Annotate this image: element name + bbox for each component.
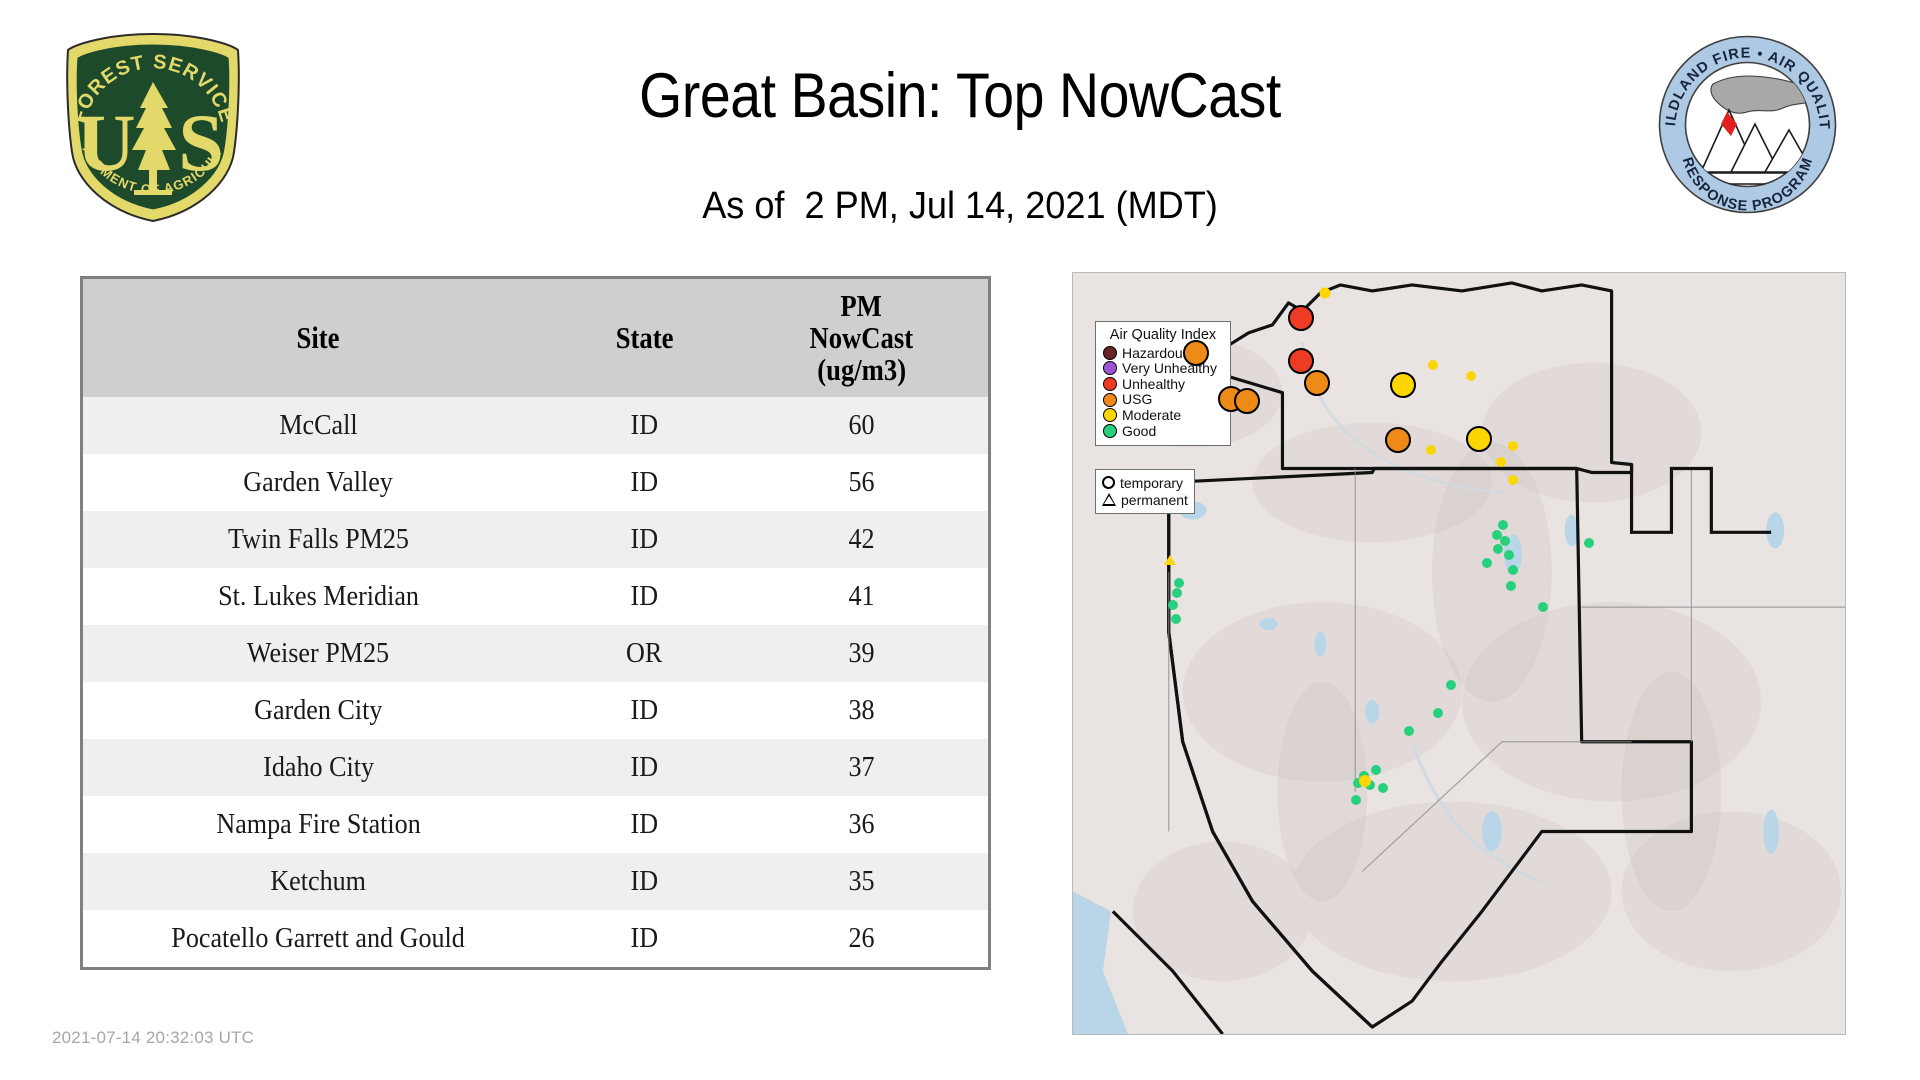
- monitor-marker[interactable]: [1482, 558, 1492, 568]
- table-row: Garden ValleyID56: [83, 454, 988, 511]
- pm-cell: 36: [735, 796, 988, 853]
- site-cell: Weiser PM25: [83, 625, 554, 682]
- site-cell: Pocatello Garrett and Gould: [83, 910, 554, 967]
- column-header-pm-nowcast: PM NowCast (ug/m3): [735, 279, 988, 397]
- monitor-marker[interactable]: [1508, 441, 1518, 451]
- monitor-marker-permanent[interactable]: [1164, 555, 1176, 565]
- monitor-marker[interactable]: [1426, 445, 1436, 455]
- pm-cell: 56: [735, 454, 988, 511]
- state-cell: ID: [554, 796, 735, 853]
- monitor-marker[interactable]: [1506, 581, 1516, 591]
- pm-cell: 41: [735, 568, 988, 625]
- monitor-marker[interactable]: [1390, 372, 1416, 398]
- pm-cell: 38: [735, 682, 988, 739]
- monitor-marker[interactable]: [1496, 457, 1506, 467]
- page-subtitle: As of 2 PM, Jul 14, 2021 (MDT): [333, 185, 1587, 228]
- state-cell: ID: [554, 397, 735, 454]
- forest-service-logo: FOREST SERVICE U S DEPARTMENT OF AGRICUL…: [58, 30, 248, 225]
- state-cell: ID: [554, 568, 735, 625]
- monitor-marker[interactable]: [1584, 538, 1594, 548]
- monitor-marker[interactable]: [1498, 520, 1508, 530]
- site-cell: Idaho City: [83, 739, 554, 796]
- monitor-marker[interactable]: [1171, 614, 1181, 624]
- state-cell: ID: [554, 853, 735, 910]
- top-nowcast-table-container: Site State PM NowCast (ug/m3) McCallID60…: [80, 276, 991, 970]
- monitor-marker[interactable]: [1234, 388, 1260, 414]
- pm-cell: 42: [735, 511, 988, 568]
- slide-root: FOREST SERVICE U S DEPARTMENT OF AGRICUL…: [0, 0, 1920, 1080]
- great-basin-monitor-map[interactable]: Air Quality Index HazardousVery Unhealth…: [1072, 272, 1846, 1035]
- pm-cell: 26: [735, 910, 988, 967]
- table-row: Nampa Fire StationID36: [83, 796, 988, 853]
- table-row: Idaho CityID37: [83, 739, 988, 796]
- monitor-marker[interactable]: [1504, 550, 1514, 560]
- state-cell: ID: [554, 739, 735, 796]
- monitor-marker[interactable]: [1351, 795, 1361, 805]
- table-body: McCallID60Garden ValleyID56Twin Falls PM…: [83, 397, 988, 967]
- column-header-state: State: [554, 279, 735, 397]
- site-cell: Twin Falls PM25: [83, 511, 554, 568]
- monitor-marker[interactable]: [1508, 565, 1518, 575]
- table-header-row: Site State PM NowCast (ug/m3): [83, 279, 988, 397]
- monitor-marker[interactable]: [1538, 602, 1548, 612]
- top-nowcast-table: Site State PM NowCast (ug/m3) McCallID60…: [83, 279, 988, 967]
- state-cell: ID: [554, 511, 735, 568]
- pm-cell: 60: [735, 397, 988, 454]
- monitor-markers-layer: [1073, 273, 1845, 1034]
- table-row: Weiser PM25OR39: [83, 625, 988, 682]
- pm-cell: 39: [735, 625, 988, 682]
- monitor-marker[interactable]: [1168, 600, 1178, 610]
- pm-cell: 37: [735, 739, 988, 796]
- site-cell: St. Lukes Meridian: [83, 568, 554, 625]
- monitor-marker[interactable]: [1433, 708, 1443, 718]
- state-cell: ID: [554, 454, 735, 511]
- page-title: Great Basin: Top NowCast: [379, 60, 1541, 132]
- monitor-marker[interactable]: [1508, 475, 1518, 485]
- monitor-marker[interactable]: [1428, 360, 1438, 370]
- monitor-marker[interactable]: [1446, 680, 1456, 690]
- table-row: McCallID60: [83, 397, 988, 454]
- monitor-marker[interactable]: [1288, 305, 1314, 331]
- site-cell: Garden Valley: [83, 454, 554, 511]
- monitor-marker[interactable]: [1404, 726, 1414, 736]
- monitor-marker[interactable]: [1385, 427, 1411, 453]
- table-header: Site State PM NowCast (ug/m3): [83, 279, 988, 397]
- monitor-marker[interactable]: [1172, 588, 1182, 598]
- state-cell: ID: [554, 910, 735, 967]
- pm-cell: 35: [735, 853, 988, 910]
- table-row: Garden CityID38: [83, 682, 988, 739]
- site-cell: Nampa Fire Station: [83, 796, 554, 853]
- site-cell: Garden City: [83, 682, 554, 739]
- monitor-marker[interactable]: [1359, 775, 1371, 787]
- monitor-marker[interactable]: [1493, 544, 1503, 554]
- monitor-marker[interactable]: [1304, 370, 1330, 396]
- monitor-marker[interactable]: [1320, 288, 1331, 299]
- wfaqrp-logo: WILDLAND FIRE • AIR QUALITY RESPONSE PRO…: [1655, 32, 1840, 217]
- table-row: Twin Falls PM25ID42: [83, 511, 988, 568]
- footer-timestamp: 2021-07-14 20:32:03 UTC: [52, 1028, 254, 1048]
- column-header-site: Site: [83, 279, 554, 397]
- monitor-marker[interactable]: [1183, 340, 1209, 366]
- table-row: Pocatello Garrett and GouldID26: [83, 910, 988, 967]
- site-cell: Ketchum: [83, 853, 554, 910]
- monitor-marker[interactable]: [1466, 426, 1492, 452]
- table-row: KetchumID35: [83, 853, 988, 910]
- state-cell: OR: [554, 625, 735, 682]
- monitor-marker[interactable]: [1371, 765, 1381, 775]
- table-row: St. Lukes MeridianID41: [83, 568, 988, 625]
- monitor-marker[interactable]: [1288, 348, 1314, 374]
- site-cell: McCall: [83, 397, 554, 454]
- state-cell: ID: [554, 682, 735, 739]
- monitor-marker[interactable]: [1466, 371, 1476, 381]
- monitor-marker[interactable]: [1174, 578, 1184, 588]
- monitor-marker[interactable]: [1378, 783, 1388, 793]
